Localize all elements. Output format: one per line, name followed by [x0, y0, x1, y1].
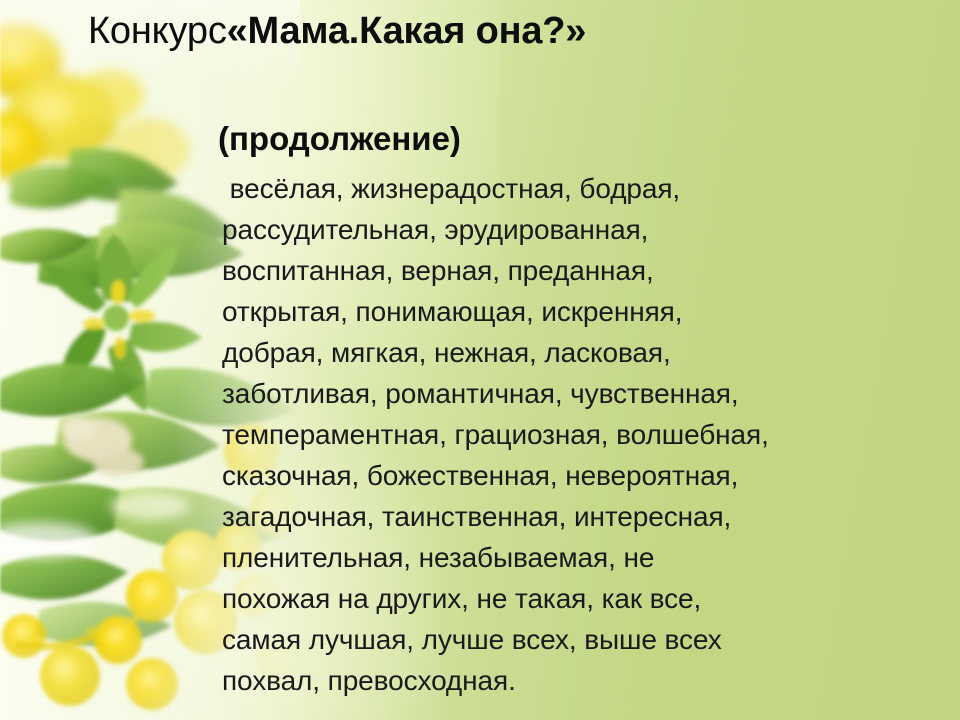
body-line: самая лучшая, лучше всех, выше всех	[222, 619, 922, 660]
body-line: загадочная, таинственная, интересная,	[222, 496, 922, 537]
body-line: заботливая, романтичная, чувственная,	[222, 373, 922, 414]
body-line: сказочная, божественная, невероятная,	[222, 455, 922, 496]
presentation-slide: Конкурс«Мама.Какая она?» (продолжение) в…	[0, 0, 960, 720]
body-line: пленительная, незабываемая, не	[222, 537, 922, 578]
body-line: открытая, понимающая, искренняя,	[222, 291, 922, 332]
slide-title-bold: «Мама.Какая она?»	[227, 10, 587, 52]
body-line: весёлая, жизнерадостная, бодрая,	[222, 168, 922, 209]
slide-title: Конкурс«Мама.Какая она?»	[88, 8, 908, 54]
body-line: воспитанная, верная, преданная,	[222, 250, 922, 291]
body-line: похожая на других, не такая, как все,	[222, 578, 922, 619]
body-line: похвал, превосходная.	[222, 660, 922, 701]
slide-subtitle: (продолжение)	[218, 118, 461, 160]
body-line: рассудительная, эрудированная,	[222, 209, 922, 250]
body-line: добрая, мягкая, нежная, ласковая,	[222, 332, 922, 373]
body-line: темпераментная, грациозная, волшебная,	[222, 414, 922, 455]
slide-title-plain: Конкурс	[88, 10, 227, 52]
slide-body-text: весёлая, жизнерадостная, бодрая, рассуди…	[222, 168, 922, 701]
